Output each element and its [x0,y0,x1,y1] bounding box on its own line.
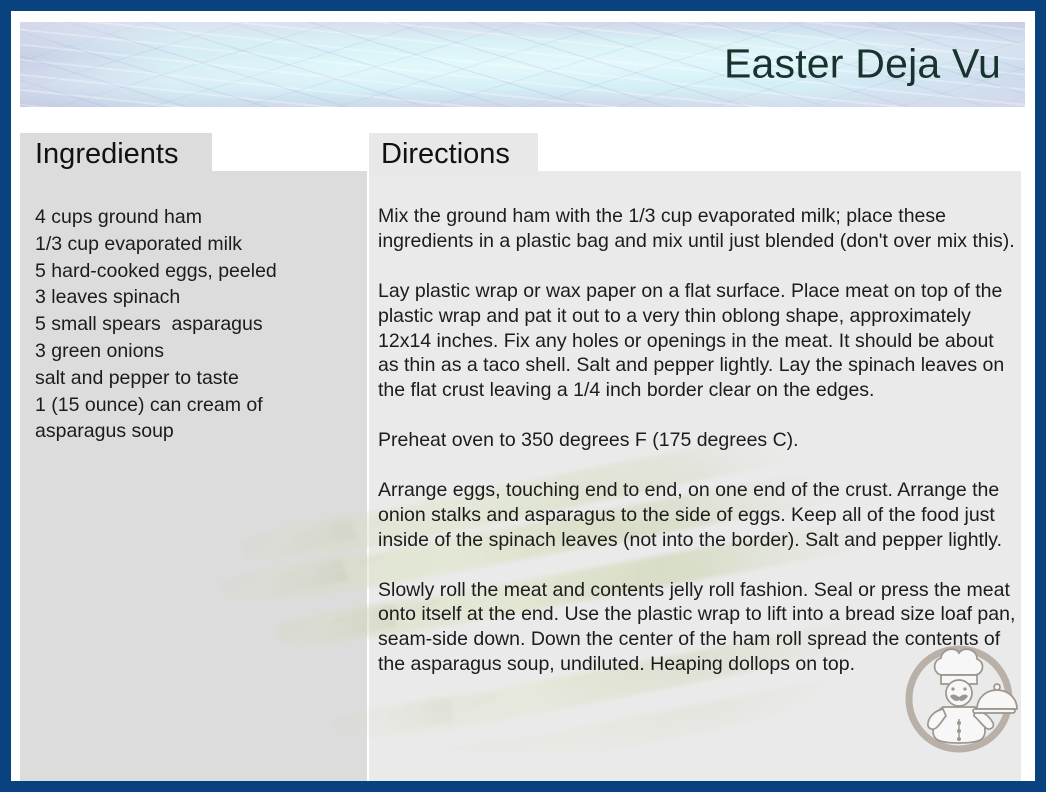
direction-step: Lay plastic wrap or wax paper on a flat … [378,279,1018,404]
header-banner: Easter Deja Vu [20,22,1025,107]
page-title: Easter Deja Vu [724,40,1001,87]
directions-heading: Directions [369,133,538,175]
ingredients-heading: Ingredients [20,133,212,175]
directions-list: Mix the ground ham with the 1/3 cup evap… [378,204,1018,677]
direction-step: Slowly roll the meat and contents jelly … [378,578,1018,678]
direction-step: Arrange eggs, touching end to end, on on… [378,478,1018,553]
direction-step: Preheat oven to 350 degrees F (175 degre… [378,428,1018,453]
recipe-card: Easter Deja Vu [0,0,1046,792]
ingredients-list: 4 cups ground ham 1/3 cup evaporated mil… [35,204,353,445]
direction-step: Mix the ground ham with the 1/3 cup evap… [378,204,1018,254]
